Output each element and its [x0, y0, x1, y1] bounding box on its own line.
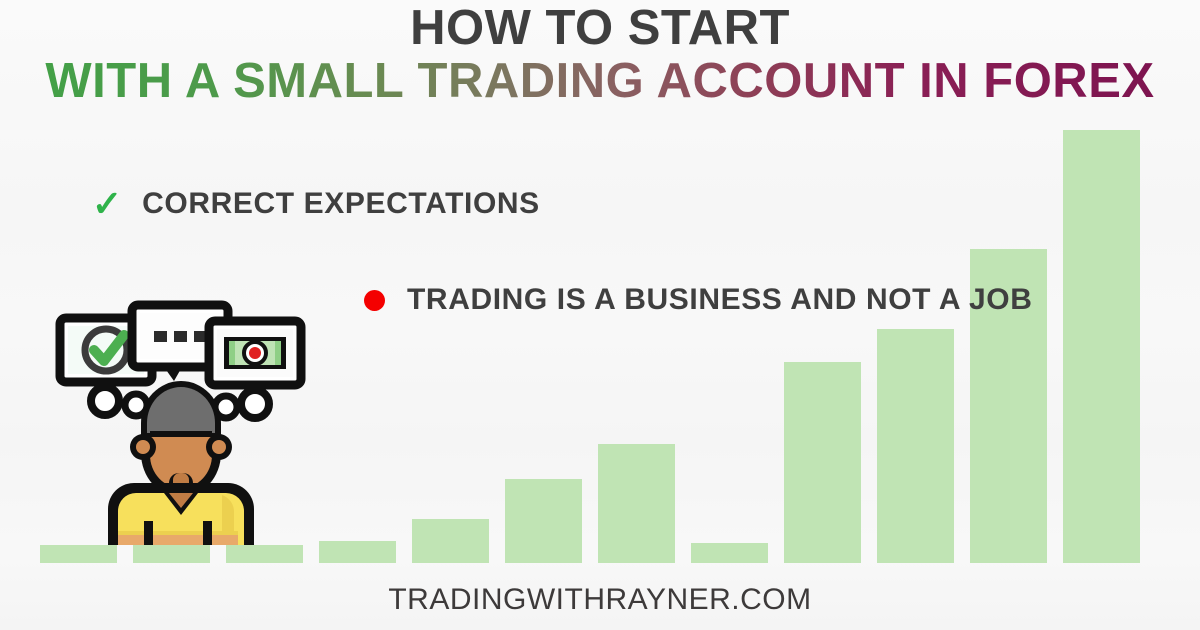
chart-bar	[691, 543, 768, 563]
chart-bar	[319, 541, 396, 563]
bullet-label-correct-expectations: CORRECT EXPECTATIONS	[142, 187, 540, 221]
chart-bar	[877, 329, 954, 563]
bullet-item-trading-is-a-business: TRADING IS A BUSINESS AND NOT A JOB	[364, 283, 1032, 317]
bullet-item-correct-expectations: ✓ CORRECT EXPECTATIONS	[92, 186, 540, 222]
chart-bar	[784, 362, 861, 563]
chart-bar	[40, 545, 117, 563]
chart-bar	[133, 545, 210, 563]
title-block: HOW TO START WITH A SMALL TRADING ACCOUN…	[0, 2, 1200, 108]
chart-bar	[412, 519, 489, 563]
footer: TRADINGWITHRAYNER.COM	[0, 583, 1200, 617]
chart-bar	[598, 444, 675, 563]
chart-bar	[226, 545, 303, 563]
chart-bar	[505, 479, 582, 563]
bullet-label-trading-is-a-business: TRADING IS A BUSINESS AND NOT A JOB	[407, 283, 1032, 317]
check-icon: ✓	[92, 186, 122, 222]
chart-bar	[1063, 130, 1140, 563]
page-title-line-2: WITH A SMALL TRADING ACCOUNT IN FOREX	[41, 54, 1158, 108]
red-dot-icon	[364, 290, 385, 311]
person-thinking-illustration	[46, 295, 314, 545]
page-title-line-1: HOW TO START	[0, 2, 1200, 54]
site-url: TRADINGWITHRAYNER.COM	[388, 583, 811, 616]
